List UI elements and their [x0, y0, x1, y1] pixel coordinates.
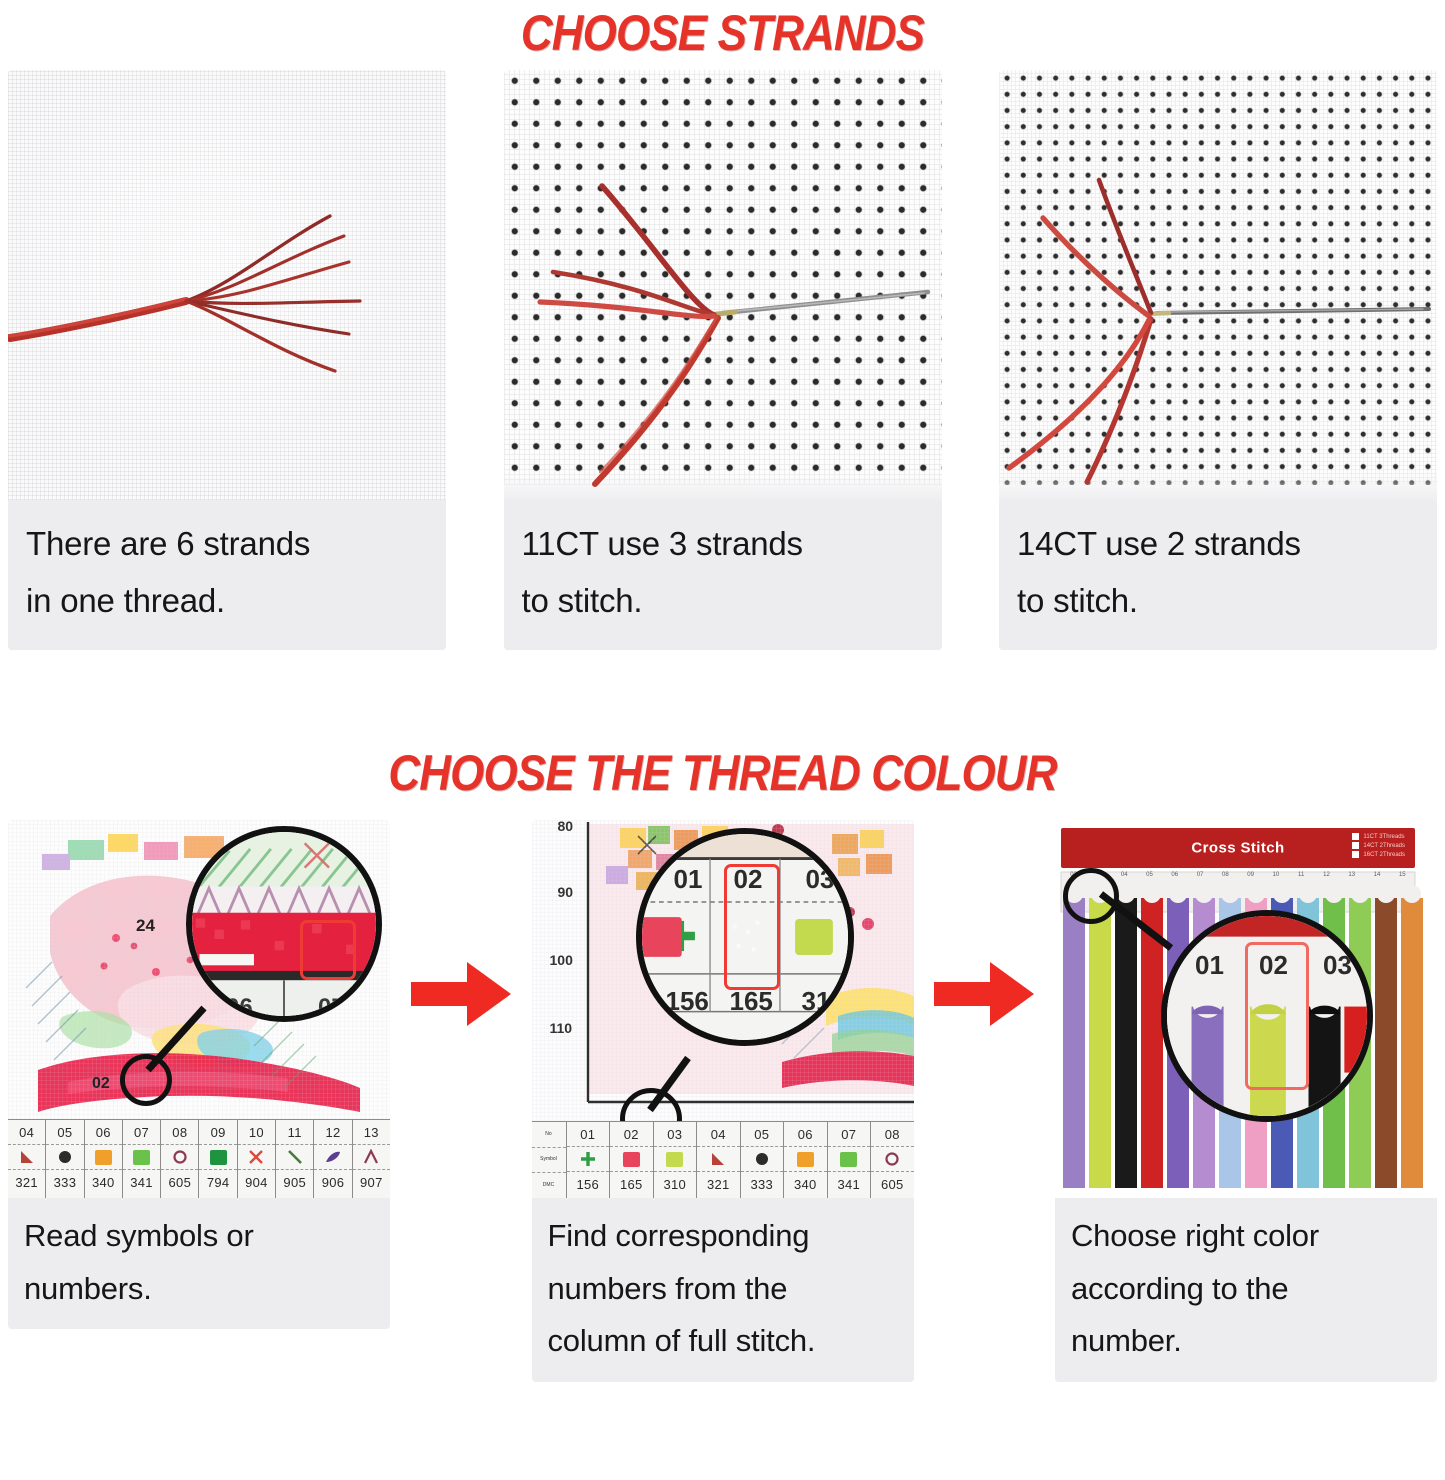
panel-fourteen-ct: 14CT use 2 strands to stitch.	[999, 70, 1437, 650]
page-title-choose-thread-colour: CHOOSE THE THREAD COLOUR	[87, 730, 1359, 820]
legend-number: 06	[85, 1120, 122, 1145]
legend-symbol-caret	[353, 1145, 390, 1170]
magnifier-code-310: 310	[802, 986, 845, 1017]
legend-number: 06	[784, 1122, 827, 1147]
legend-column[interactable]: 08 605	[871, 1122, 914, 1198]
legend-table: No Symbol DMC 01 156 02 165	[532, 1121, 914, 1198]
legend-column[interactable]: 09 794	[199, 1120, 237, 1198]
magnifier-code-165: 165	[730, 986, 773, 1017]
panel-eleven-ct: 11CT use 3 strands to stitch.	[504, 70, 942, 650]
legend-column[interactable]: 07 341	[123, 1120, 161, 1198]
magnifier-lens: 01 02 03	[1161, 910, 1373, 1122]
legend-number: 05	[741, 1122, 784, 1147]
magnifier-source-circle[interactable]	[1063, 868, 1119, 924]
magnifier-source-circle	[120, 1054, 172, 1106]
legend-column[interactable]: 05 333	[741, 1122, 785, 1198]
photo-pattern-chart: 24 02	[8, 820, 390, 1198]
caption-line-2: numbers from the	[548, 1263, 898, 1316]
legend-row-label-symbol: Symbol	[532, 1148, 566, 1174]
caret-icon	[362, 1149, 380, 1165]
legend-code: 165	[610, 1172, 653, 1196]
needle-icon	[1145, 309, 1429, 314]
arrow-two-wrap	[924, 820, 1044, 1030]
photo-fourteen-ct	[999, 70, 1437, 500]
leaf-icon	[324, 1149, 342, 1165]
legend-column[interactable]: 04 321	[8, 1120, 46, 1198]
x-mark-icon	[247, 1149, 265, 1165]
legend-number: 07	[123, 1120, 160, 1145]
two-strands-needle-illustration	[999, 70, 1437, 500]
legend-column[interactable]: 13 907	[353, 1120, 390, 1198]
plus-icon	[579, 1150, 597, 1168]
triangle-icon	[709, 1151, 727, 1167]
caption-read-symbols: Read symbols or numbers.	[8, 1198, 390, 1329]
legend-code: 340	[85, 1170, 122, 1194]
pink-square-icon	[623, 1152, 640, 1167]
legend-column[interactable]: 01 156	[567, 1122, 611, 1198]
legend-column[interactable]: 07 341	[828, 1122, 872, 1198]
legend-number: 01	[567, 1122, 610, 1147]
legend-column[interactable]: 06 340	[784, 1122, 828, 1198]
legend-column[interactable]: 05 333	[46, 1120, 84, 1198]
legend-number: 08	[871, 1122, 914, 1147]
legend-row-label-no: No	[532, 1122, 566, 1148]
legend-code: 605	[871, 1172, 914, 1196]
legend-column[interactable]: 06 340	[85, 1120, 123, 1198]
legend-symbol-dot	[46, 1145, 83, 1170]
caption-line-1: 14CT use 2 strands	[1017, 516, 1419, 573]
legend-number: 12	[314, 1120, 351, 1145]
right-arrow-icon	[932, 958, 1036, 1030]
triangle-icon	[18, 1149, 36, 1165]
legend-symbol-green-square	[123, 1145, 160, 1170]
magnifier-column-03: 03	[1323, 950, 1352, 981]
legend-symbol-pink-square	[610, 1147, 653, 1172]
magnifier-column-02: 02	[734, 864, 763, 895]
circle-icon	[884, 1151, 900, 1167]
caption-line-2: in one thread.	[26, 573, 428, 630]
legend-code: 341	[123, 1170, 160, 1194]
legend-code: 333	[46, 1170, 83, 1194]
slash-icon	[286, 1149, 304, 1165]
strands-row: There are 6 strands in one thread.	[0, 70, 1445, 730]
legend-code: 904	[238, 1170, 275, 1194]
caption-fourteen-ct: 14CT use 2 strands to stitch.	[999, 500, 1437, 650]
photo-thread-organizer: Cross Stitch 11CT 3Threads 14CT 2Threads…	[1055, 820, 1437, 1198]
orange-square-icon	[95, 1150, 112, 1165]
caption-line-3: number.	[1071, 1315, 1421, 1368]
legend-row-labels: No Symbol DMC	[532, 1122, 567, 1198]
legend-symbol-dot	[741, 1147, 784, 1172]
legend-symbol-x-mark	[238, 1145, 275, 1170]
legend-number: 07	[828, 1122, 871, 1147]
page-title-choose-strands: CHOOSE STRANDS	[87, 0, 1359, 70]
legend-number: 03	[654, 1122, 697, 1147]
legend-number: 10	[238, 1120, 275, 1145]
green-square-icon	[840, 1152, 857, 1167]
legend-symbol-triangle	[8, 1145, 45, 1170]
legend-column[interactable]: 03 310	[654, 1122, 698, 1198]
legend-code: 310	[654, 1172, 697, 1196]
dot-icon	[57, 1149, 73, 1165]
magnifier-column-01: 01	[674, 864, 703, 895]
thread-colour-row: 24 02	[0, 820, 1445, 1420]
dark-green-square-icon	[210, 1150, 227, 1165]
legend-symbol-leaf	[314, 1145, 351, 1170]
legend-code: 341	[828, 1172, 871, 1196]
legend-column[interactable]: 12 906	[314, 1120, 352, 1198]
legend-symbol-orange-square	[784, 1147, 827, 1172]
caption-line-1: There are 6 strands	[26, 516, 428, 573]
needle-icon	[709, 292, 928, 315]
legend-table: 04 321 05 333 06	[8, 1119, 390, 1198]
panel-choose-color: Cross Stitch 11CT 3Threads 14CT 2Threads…	[1055, 820, 1437, 1382]
caption-line-1: Read symbols or	[24, 1210, 374, 1263]
caption-line-2: numbers.	[24, 1263, 374, 1316]
six-strands-illustration	[8, 70, 446, 500]
legend-number: 13	[353, 1120, 390, 1145]
caption-six-strands: There are 6 strands in one thread.	[8, 500, 446, 650]
legend-number: 05	[46, 1120, 83, 1145]
legend-column[interactable]: 04 321	[697, 1122, 741, 1198]
caption-find-numbers: Find corresponding numbers from the colu…	[532, 1198, 914, 1382]
legend-column[interactable]: 10 904	[238, 1120, 276, 1198]
panel-six-strands: There are 6 strands in one thread.	[8, 70, 446, 650]
legend-symbol-plus	[567, 1147, 610, 1172]
caption-line-1: Choose right color	[1071, 1210, 1421, 1263]
legend-code: 605	[161, 1170, 198, 1194]
legend-code: 321	[697, 1172, 740, 1196]
magnifier-column-03: 03	[806, 864, 835, 895]
magnifier-code-156: 156	[666, 986, 709, 1017]
legend-column[interactable]: 11 905	[276, 1120, 314, 1198]
legend-symbol-circle	[161, 1145, 198, 1170]
legend-number: 04	[8, 1120, 45, 1145]
legend-symbol-green-square	[828, 1147, 871, 1172]
legend-symbol-dark-green-square	[199, 1145, 236, 1170]
green-square-icon	[133, 1150, 150, 1165]
right-arrow-icon	[409, 958, 513, 1030]
legend-column[interactable]: 02 165	[610, 1122, 654, 1198]
caption-line-3: column of full stitch.	[548, 1315, 898, 1368]
legend-symbol-triangle	[697, 1147, 740, 1172]
panel-read-symbols: 24 02	[8, 820, 390, 1329]
orange-square-icon	[797, 1152, 814, 1167]
panel-find-numbers: 80 90 100 110	[532, 820, 914, 1382]
legend-number: 11	[276, 1120, 313, 1145]
magnifier-column-02: 02	[1259, 950, 1288, 981]
caption-line-2: according to the	[1071, 1263, 1421, 1316]
three-strands-needle-illustration	[504, 70, 942, 500]
caption-choose-color: Choose right color according to the numb…	[1055, 1198, 1437, 1382]
circle-icon	[172, 1149, 188, 1165]
legend-number: 02	[610, 1122, 653, 1147]
legend-code: 907	[353, 1170, 390, 1194]
legend-symbol-orange-square	[85, 1145, 122, 1170]
caption-line-1: 11CT use 3 strands	[522, 516, 924, 573]
legend-code: 906	[314, 1170, 351, 1194]
magnifier-highlight-box	[300, 920, 356, 980]
legend-number: 04	[697, 1122, 740, 1147]
arrow-one-wrap	[401, 820, 521, 1030]
photo-eleven-ct	[504, 70, 942, 500]
photo-six-strands	[8, 70, 446, 500]
legend-code: 321	[8, 1170, 45, 1194]
magnifier-lens: 06 07	[186, 826, 382, 1022]
legend-symbol-slash	[276, 1145, 313, 1170]
legend-row-label-dmc: DMC	[532, 1173, 566, 1198]
photo-full-stitch-chart: 80 90 100 110	[532, 820, 914, 1198]
legend-symbol-lime-square	[654, 1147, 697, 1172]
caption-eleven-ct: 11CT use 3 strands to stitch.	[504, 500, 942, 650]
dot-icon	[754, 1151, 770, 1167]
lime-square-icon	[666, 1152, 683, 1167]
caption-line-1: Find corresponding	[548, 1210, 898, 1263]
legend-column[interactable]: 08 605	[161, 1120, 199, 1198]
legend-symbol-circle	[871, 1147, 914, 1172]
caption-line-2: to stitch.	[522, 573, 924, 630]
legend-code: 340	[784, 1172, 827, 1196]
legend-number: 09	[199, 1120, 236, 1145]
legend-code: 905	[276, 1170, 313, 1194]
legend-code: 333	[741, 1172, 784, 1196]
magnifier-column-01: 01	[1195, 950, 1224, 981]
legend-code: 156	[567, 1172, 610, 1196]
legend-code: 794	[199, 1170, 236, 1194]
magnifier-lens: 01 02 03 156 165 310	[636, 828, 854, 1046]
legend-number: 08	[161, 1120, 198, 1145]
caption-line-2: to stitch.	[1017, 573, 1419, 630]
